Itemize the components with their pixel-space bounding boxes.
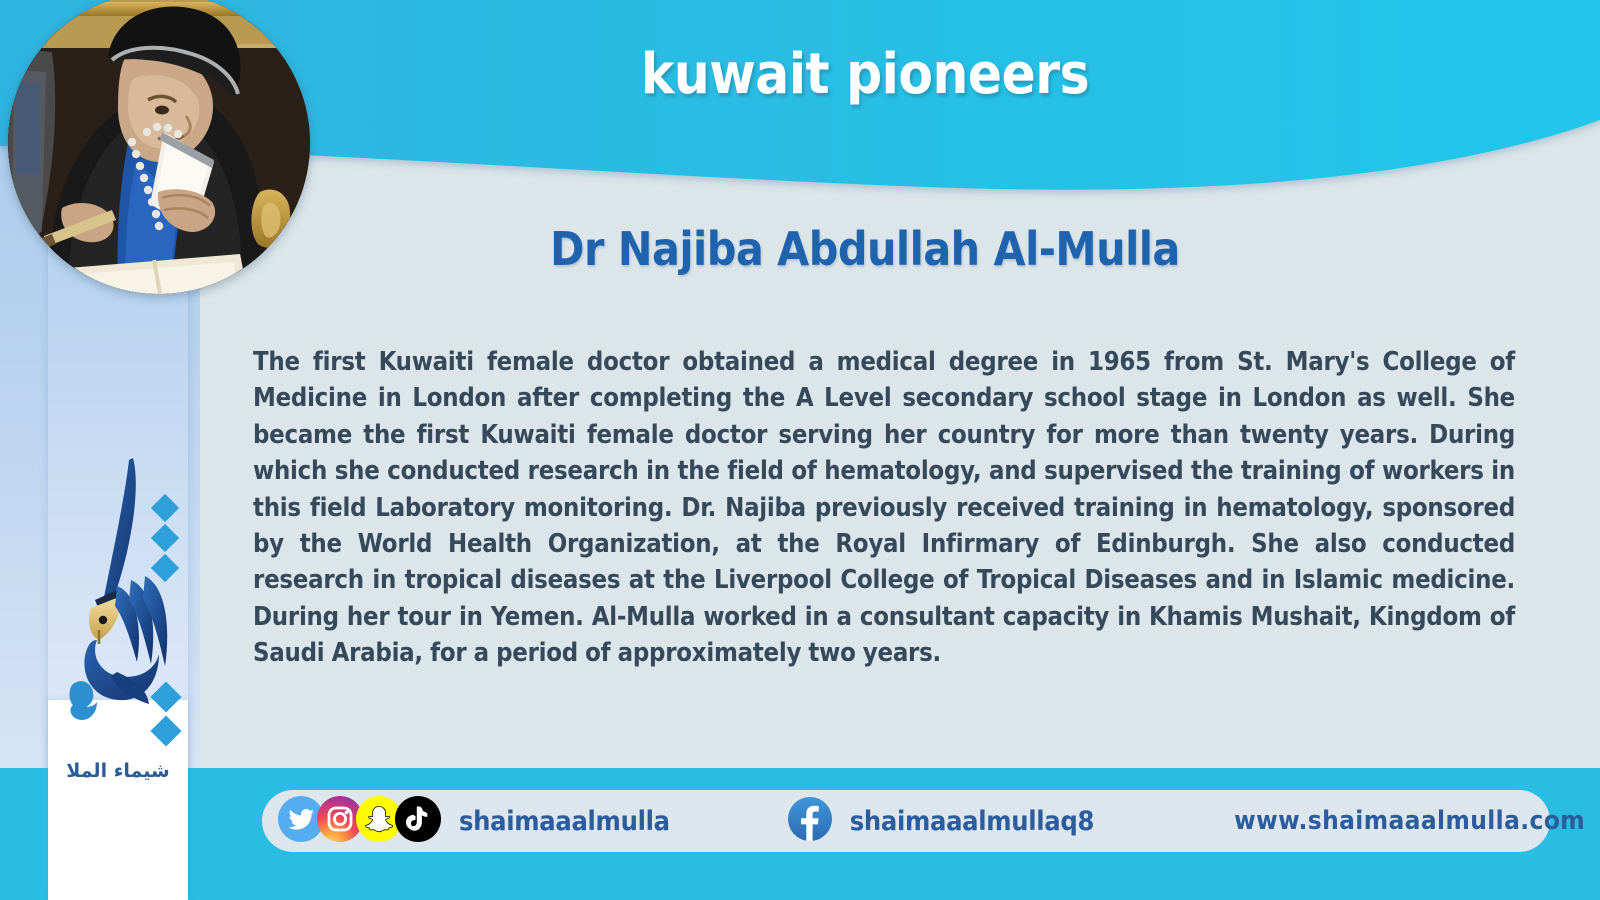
website-group: www.shaimaaalmulla.com xyxy=(1234,790,1585,852)
website-url[interactable]: www.shaimaaalmulla.com xyxy=(1234,806,1585,836)
tiktok-icon[interactable] xyxy=(395,796,441,847)
social-icon-row xyxy=(278,796,441,847)
facebook-icon[interactable] xyxy=(788,797,832,846)
social-group-facebook: shaimaaalmullaq8 xyxy=(788,790,1094,852)
brand-name-arabic: شيماء الملا xyxy=(48,760,188,782)
poster-canvas: kuwait pioneers xyxy=(0,0,1600,900)
social-handle-primary[interactable]: shaimaaalmulla xyxy=(459,806,670,837)
biography-text: The first Kuwaiti female doctor obtained… xyxy=(253,344,1515,672)
avatar xyxy=(8,0,310,294)
social-handle-facebook[interactable]: shaimaaalmullaq8 xyxy=(850,806,1094,837)
person-name: Dr Najiba Abdullah Al-Mulla xyxy=(220,222,1510,276)
social-group-primary: shaimaaalmulla xyxy=(278,790,670,852)
brand-logo xyxy=(55,440,183,780)
footer-contact-bar: shaimaaalmulla shaimaaalmullaq8 xyxy=(262,790,1550,852)
